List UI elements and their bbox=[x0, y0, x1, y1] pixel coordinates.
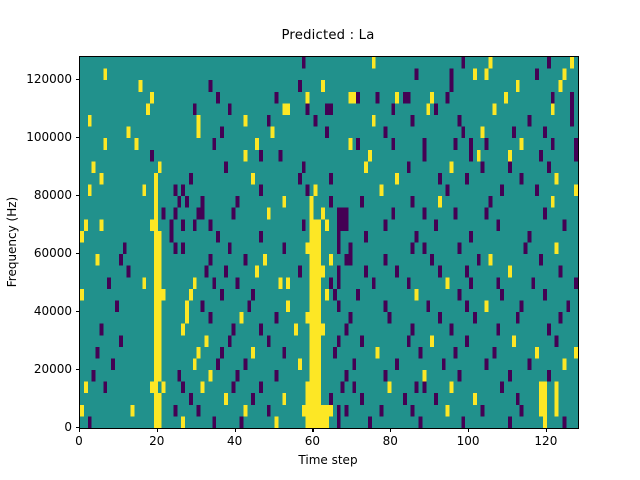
x-tick-mark bbox=[157, 428, 158, 432]
x-tick-label: 0 bbox=[75, 434, 83, 448]
y-tick-mark bbox=[76, 79, 80, 80]
x-tick-mark bbox=[312, 428, 313, 432]
y-tick-mark bbox=[76, 195, 80, 196]
y-tick-label: 20000 bbox=[34, 362, 72, 376]
page-title: Predicted : La bbox=[79, 28, 577, 43]
y-axis-label: Frequency (Hz) bbox=[5, 142, 19, 342]
x-tick-label: 100 bbox=[457, 434, 480, 448]
x-tick-mark bbox=[235, 428, 236, 432]
y-tick-label: 0 bbox=[64, 420, 72, 434]
y-tick-mark bbox=[76, 369, 80, 370]
y-tick-mark bbox=[76, 427, 80, 428]
x-axis-label: Time step bbox=[79, 453, 577, 467]
x-tick-mark bbox=[390, 428, 391, 432]
heatmap-plot-area bbox=[79, 56, 579, 429]
y-tick-mark bbox=[76, 137, 80, 138]
y-tick-mark bbox=[76, 253, 80, 254]
x-tick-mark bbox=[546, 428, 547, 432]
matplotlib-figure: Predicted : La 020406080100120 020000400… bbox=[0, 0, 640, 480]
y-tick-label: 120000 bbox=[26, 72, 72, 86]
x-tick-mark bbox=[79, 428, 80, 432]
y-tick-label: 60000 bbox=[34, 246, 72, 260]
x-tick-mark bbox=[468, 428, 469, 432]
y-tick-mark bbox=[76, 311, 80, 312]
x-tick-label: 120 bbox=[534, 434, 557, 448]
x-tick-label: 80 bbox=[383, 434, 398, 448]
heatmap-image bbox=[80, 57, 578, 428]
x-tick-label: 20 bbox=[149, 434, 164, 448]
y-tick-label: 100000 bbox=[26, 130, 72, 144]
x-tick-label: 40 bbox=[227, 434, 242, 448]
y-tick-label: 80000 bbox=[34, 188, 72, 202]
x-tick-label: 60 bbox=[305, 434, 320, 448]
y-tick-label: 40000 bbox=[34, 304, 72, 318]
